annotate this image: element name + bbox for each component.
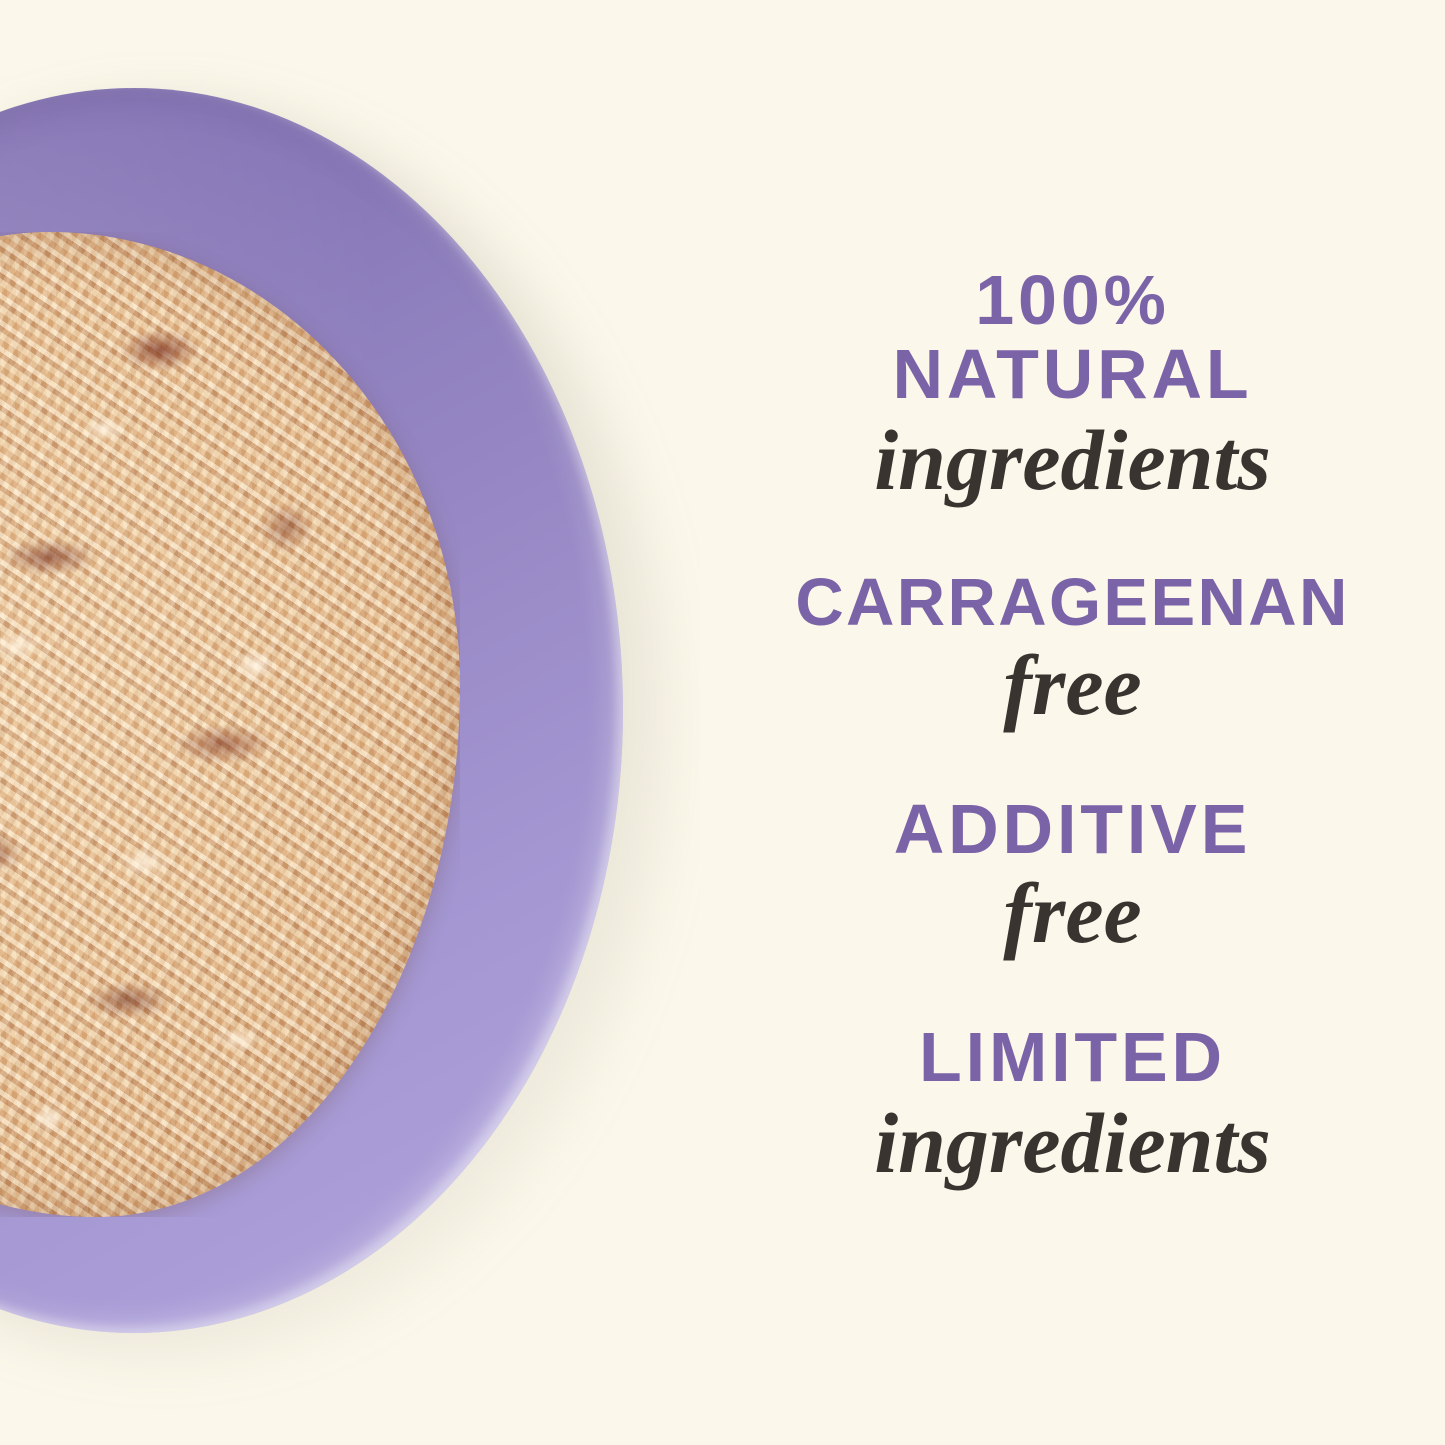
claim-carrageenan: CARRAGEENAN free xyxy=(700,565,1445,728)
claim-additive-headline-line2: ADDITIVE xyxy=(700,794,1445,864)
claim-natural-headline-line2: NATURAL xyxy=(700,339,1445,409)
food-edge-fringe xyxy=(0,232,460,1217)
product-feature-image: 100% NATURAL ingredients CARRAGEENAN fre… xyxy=(0,0,1445,1445)
claim-natural: 100% NATURAL ingredients xyxy=(700,265,1445,503)
claim-carrageenan-subtext: free xyxy=(700,642,1445,728)
claim-natural-subtext: ingredients xyxy=(700,417,1445,503)
claim-limited-headline-line2: LIMITED xyxy=(700,1022,1445,1092)
claim-carrageenan-headline: CARRAGEENAN xyxy=(700,569,1445,636)
claim-additive-subtext: free xyxy=(700,870,1445,956)
claim-limited-subtext: ingredients xyxy=(700,1100,1445,1186)
claim-carrageenan-headline-line2: CARRAGEENAN xyxy=(700,569,1445,636)
claims-column: 100% NATURAL ingredients CARRAGEENAN fre… xyxy=(700,0,1445,1445)
claim-additive: ADDITIVE free xyxy=(700,790,1445,956)
food-portion xyxy=(0,232,460,1217)
claim-natural-headline-line1: 100% xyxy=(700,265,1445,335)
claim-limited-headline: LIMITED xyxy=(700,1022,1445,1092)
claim-natural-headline: 100% NATURAL xyxy=(700,265,1445,409)
claim-additive-headline: ADDITIVE xyxy=(700,794,1445,864)
product-photo xyxy=(0,0,700,1445)
claim-limited: LIMITED ingredients xyxy=(700,1018,1445,1186)
